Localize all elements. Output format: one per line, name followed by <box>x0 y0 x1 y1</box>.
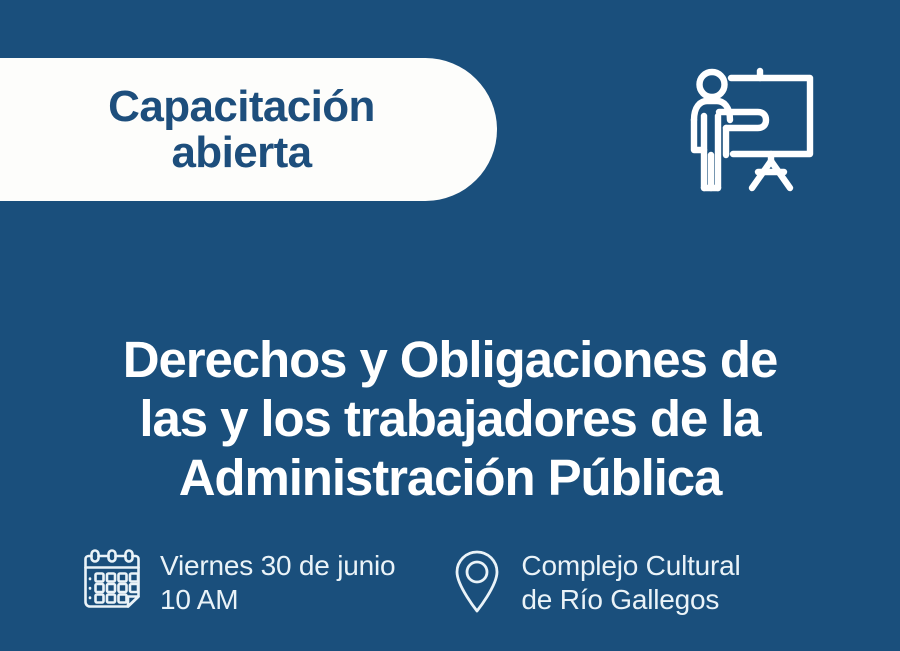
banner-label: Capacitación abierta <box>108 84 375 175</box>
calendar-icon <box>82 548 142 612</box>
capacitacion-banner-pill: Capacitación abierta <box>0 58 497 201</box>
event-place-text: Complejo Cultural de Río Gallegos <box>521 545 740 617</box>
map-pin-icon <box>451 548 503 614</box>
presenter-board-icon <box>686 60 820 194</box>
event-date-block: Viernes 30 de junio 10 AM <box>82 545 395 617</box>
event-date-text: Viernes 30 de junio 10 AM <box>160 545 395 617</box>
event-details: Viernes 30 de junio 10 AM Complejo Cultu… <box>0 545 900 640</box>
page-title: Derechos y Obligaciones de las y los tra… <box>0 330 900 507</box>
event-poster: Capacitación abierta Der <box>0 0 900 651</box>
event-place-block: Complejo Cultural de Río Gallegos <box>447 545 740 617</box>
